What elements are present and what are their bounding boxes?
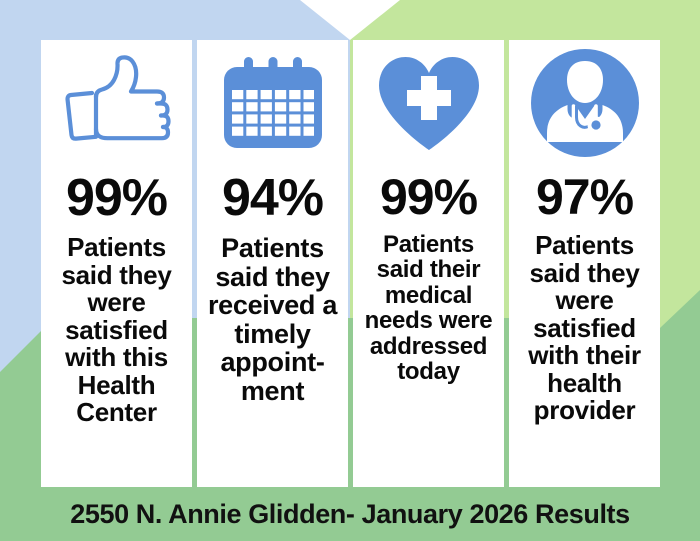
heart-medical-cross-icon	[357, 40, 500, 166]
stat-caption: Patients said their medical needs were a…	[357, 232, 500, 385]
stat-card-medical-needs: 99% Patients said their medical needs we…	[353, 40, 504, 487]
stat-card-health-provider: 97% Patients said they were satisfied wi…	[509, 40, 660, 487]
calendar-icon	[201, 40, 344, 166]
infographic-canvas: 99% Patients said they were satisfied wi…	[0, 0, 700, 541]
stat-caption: Patients said they received a timely app…	[201, 234, 344, 406]
footer-label: 2550 N. Annie Glidden- January 2026 Resu…	[70, 499, 630, 530]
stat-caption: Patients said they were satisfied with t…	[513, 232, 656, 425]
stat-card-row: 99% Patients said they were satisfied wi…	[41, 40, 660, 487]
stat-percent: 99%	[66, 172, 167, 224]
stat-card-satisfaction: 99% Patients said they were satisfied wi…	[41, 40, 192, 487]
doctor-avatar-icon	[513, 40, 656, 166]
stat-percent: 97%	[536, 172, 633, 222]
stat-caption: Patients said they were satisfied with t…	[45, 234, 188, 427]
stat-percent: 94%	[222, 172, 323, 224]
thumbs-up-icon	[45, 40, 188, 166]
stat-card-timely-appointment: 94% Patients said they received a timely…	[197, 40, 348, 487]
stat-percent: 99%	[380, 172, 477, 222]
footer-banner: 2550 N. Annie Glidden- January 2026 Resu…	[0, 487, 700, 541]
